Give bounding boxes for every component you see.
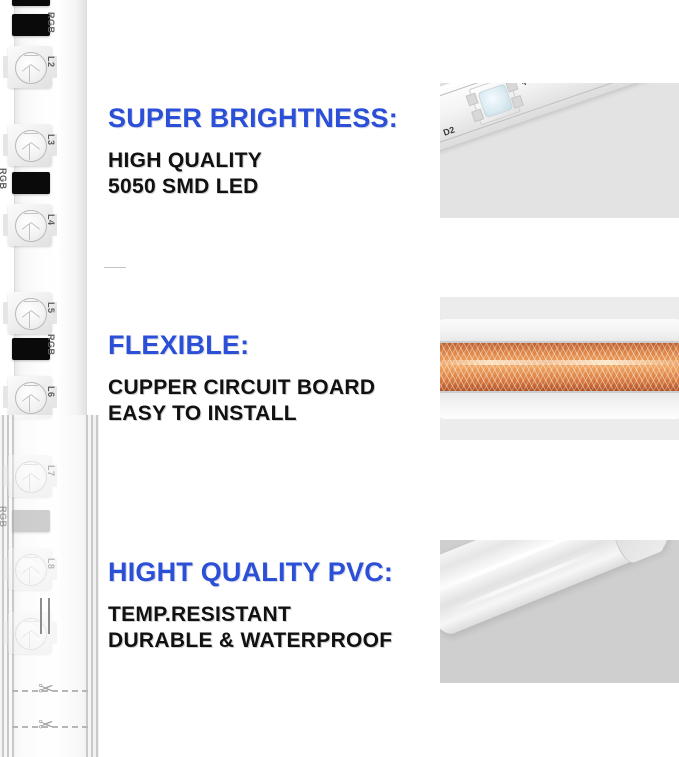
divider-line [104, 267, 126, 268]
rgb-solder-pad [12, 0, 50, 6]
pcb-board: R11 D2 + [440, 83, 679, 154]
led-chip [8, 612, 52, 654]
copper-highlight [440, 360, 679, 365]
pvc-highlight [440, 540, 601, 594]
led-dome-icon [15, 618, 47, 650]
led-label-l8: L8 [46, 558, 56, 570]
smd-led-closeup-photo: R11 D2 + [440, 83, 679, 218]
feature-text-flexible: FLEXIBLE: CUPPER CIRCUIT BOARD EASY TO I… [108, 330, 375, 426]
rgb-pad-label: RGB [46, 334, 56, 356]
rgb-pad-label: RGB [0, 506, 8, 528]
lead-wire [40, 598, 42, 634]
led-dome-icon [15, 210, 47, 242]
feature-text-super-brightness: SUPER BRIGHTNESS: HIGH QUALITY 5050 SMD … [108, 103, 398, 199]
tube-edge [440, 391, 679, 393]
rgb-solder-pad [12, 14, 50, 36]
rgb-pad-label: RGB [46, 12, 56, 34]
rgb-solder-pad [12, 172, 50, 194]
feature-headline: FLEXIBLE: [108, 330, 375, 361]
feature-subline: HIGH QUALITY [108, 148, 398, 174]
silkscreen-plus: + [520, 83, 530, 90]
led-dome-icon [15, 52, 47, 84]
led-dome-icon [15, 130, 47, 162]
pvc-tube-body [440, 540, 673, 638]
led-label-l3: L3 [46, 134, 56, 146]
rgb-solder-pad [12, 338, 50, 360]
copper-braid [440, 343, 679, 391]
copper-circuit-board-photo [440, 297, 679, 440]
feature-subline: 5050 SMD LED [108, 174, 398, 200]
led-label-l6: L6 [46, 386, 56, 398]
led-dome-icon [15, 298, 47, 330]
pvc-highlight [451, 549, 601, 613]
led-dome-icon [15, 382, 47, 414]
rgb-solder-pad [12, 510, 50, 532]
feature-headline: SUPER BRIGHTNESS: [108, 103, 398, 134]
led-dome-icon [15, 554, 47, 586]
led-label-l5: L5 [46, 302, 56, 314]
smd-led-chip [469, 83, 521, 125]
feature-subline: DURABLE & WATERPROOF [108, 628, 393, 654]
led-label-l4: L4 [46, 214, 56, 226]
lead-wire [48, 598, 50, 634]
feature-text-hight-quality-pvc: HIGHT QUALITY PVC: TEMP.RESISTANT DURABL… [108, 557, 393, 653]
rgb-pad-label: RGB [0, 168, 8, 190]
pvc-sleeve-photo [440, 540, 679, 683]
led-label-l7: L7 [46, 465, 56, 477]
feature-subline: CUPPER CIRCUIT BOARD [108, 375, 375, 401]
led-label-l2: L2 [46, 56, 56, 68]
feature-subline: TEMP.RESISTANT [108, 602, 393, 628]
scissors-icon: ✂ [38, 680, 54, 699]
feature-subline: EASY TO INSTALL [108, 401, 375, 427]
feature-headline: HIGHT QUALITY PVC: [108, 557, 393, 588]
scissors-icon: ✂ [38, 716, 54, 735]
led-strip-diagram: RGB L2 L3 RGB L4 L5 RGB L6 [0, 0, 100, 757]
pvc-tube-end-cap [595, 540, 669, 566]
led-dome-icon [15, 461, 47, 493]
